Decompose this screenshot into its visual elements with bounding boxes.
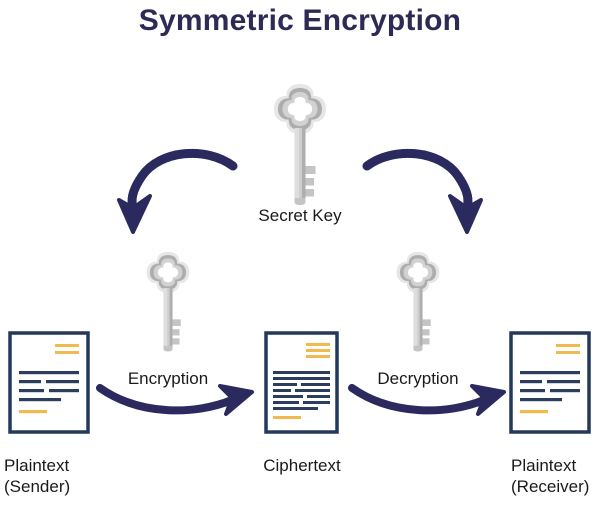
key-icon-decryption xyxy=(390,248,446,352)
secret-key-label: Secret Key xyxy=(220,205,380,226)
plaintext-sender-label-line2: (Sender) xyxy=(4,476,124,497)
ciphertext-label: Ciphertext xyxy=(232,455,372,476)
symmetric-encryption-diagram: Symmetric Encryption xyxy=(0,0,600,508)
encryption-flow-arrow xyxy=(100,386,252,414)
encryption-label: Encryption xyxy=(98,368,238,389)
document-icon-ciphertext xyxy=(264,331,339,434)
document-icon-plaintext-sender xyxy=(8,331,90,434)
plaintext-receiver-label-line2: (Receiver) xyxy=(511,476,600,497)
plaintext-receiver-label: Plaintext (Receiver) xyxy=(511,455,600,497)
key-icon-secret xyxy=(266,80,334,205)
key-to-encryption-arrow xyxy=(119,153,233,232)
document-icon-plaintext-receiver xyxy=(509,331,591,434)
plaintext-receiver-label-line1: Plaintext xyxy=(511,455,600,476)
plaintext-sender-label: Plaintext (Sender) xyxy=(4,455,124,497)
key-icon-encryption xyxy=(140,248,196,352)
decryption-flow-arrow xyxy=(352,386,504,414)
page-title: Symmetric Encryption xyxy=(0,4,600,38)
key-to-decryption-arrow xyxy=(367,153,481,232)
decryption-label: Decryption xyxy=(348,368,488,389)
plaintext-sender-label-line1: Plaintext xyxy=(4,455,124,476)
